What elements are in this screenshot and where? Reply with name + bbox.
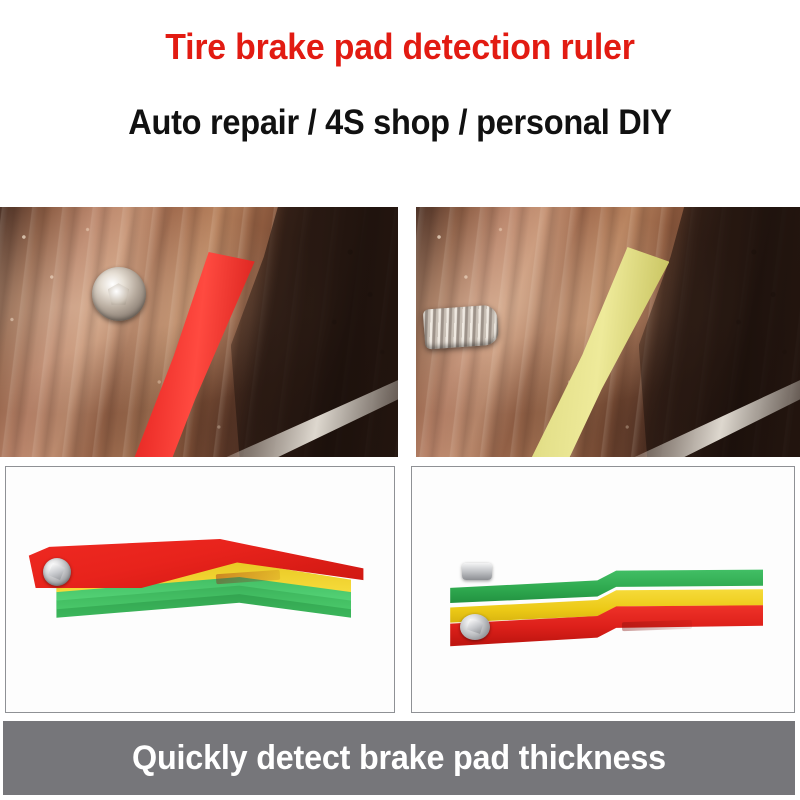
- chrome-rivet-icon: [460, 614, 490, 640]
- banner-text: Quickly detect brake pad thickness: [132, 739, 666, 778]
- photo-yellow-blade-in-rotor: [416, 207, 800, 457]
- product-marketing-image: Tire brake pad detection ruler Auto repa…: [0, 0, 800, 800]
- chrome-rivet-icon: [43, 558, 71, 586]
- header: Tire brake pad detection ruler Auto repa…: [0, 0, 800, 200]
- threaded-stud-icon: [422, 304, 499, 349]
- photo-red-blade-in-rotor: [0, 207, 398, 457]
- blade-emboss-mark: [622, 620, 692, 631]
- bottom-banner: Quickly detect brake pad thickness: [3, 721, 795, 795]
- chrome-rivet-top-icon: [462, 563, 492, 580]
- gauge-stacked-illustration: [412, 467, 794, 712]
- gauge-fanned-illustration: [6, 467, 394, 712]
- hub-bolt-icon: [92, 267, 146, 321]
- photo-row: [0, 207, 800, 457]
- product-row: [0, 466, 800, 713]
- page-title: Tire brake pad detection ruler: [24, 26, 776, 68]
- product-fanned-top-view: [5, 466, 395, 713]
- page-subtitle: Auto repair / 4S shop / personal DIY: [28, 103, 772, 143]
- product-stacked-edge-view: [411, 466, 795, 713]
